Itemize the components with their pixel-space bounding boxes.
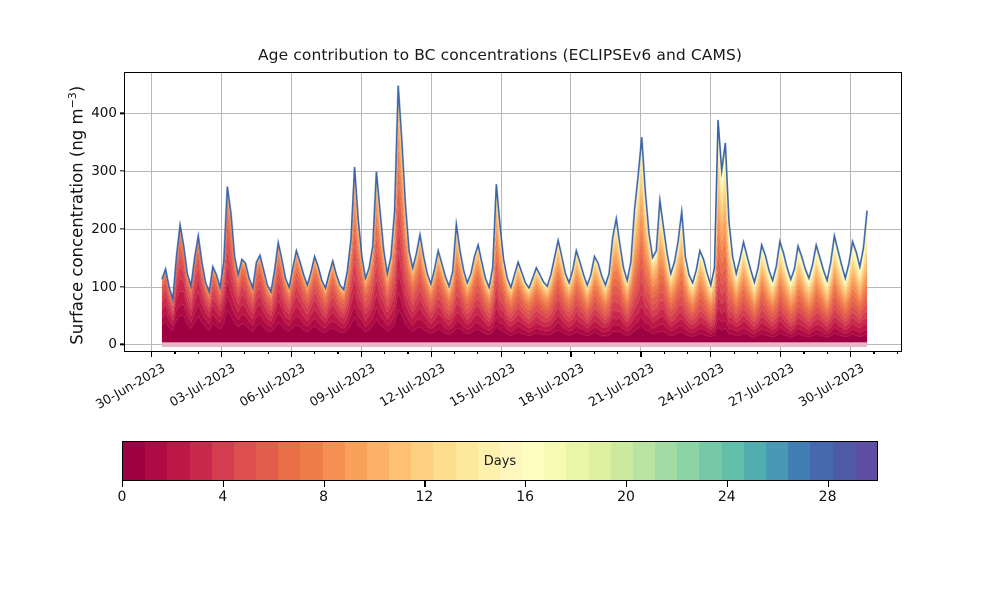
colorbar-swatch xyxy=(256,442,278,480)
colorbar-tick-label: 0 xyxy=(118,489,127,505)
x-tick-mark-minor xyxy=(477,351,478,354)
y-tick-mark xyxy=(120,170,125,171)
colorbar-tick-label: 4 xyxy=(218,489,227,505)
y-tick-label: 0 xyxy=(108,336,117,352)
y-tick-label: 300 xyxy=(91,163,117,179)
x-tick-label: 30-Jul-2023 xyxy=(796,360,867,410)
colorbar-swatch xyxy=(234,442,256,480)
y-axis-label: Surface concentration (ng m−3) xyxy=(66,55,87,375)
x-tick-label: 12-Jul-2023 xyxy=(376,360,447,410)
x-tick-mark-minor xyxy=(687,351,688,354)
x-tick-label: 24-Jul-2023 xyxy=(656,360,727,410)
x-tick-mark xyxy=(221,351,222,357)
colorbar-swatch xyxy=(167,442,189,480)
x-tick-label: 15-Jul-2023 xyxy=(446,360,517,410)
colorbar: Days 0481216202428 xyxy=(122,441,878,481)
colorbar-swatch xyxy=(833,442,855,480)
colorbar-swatch xyxy=(367,442,389,480)
colorbar-swatch xyxy=(722,442,744,480)
figure-canvas: Age contribution to BC concentrations (E… xyxy=(0,0,1000,600)
x-tick-label: 18-Jul-2023 xyxy=(516,360,587,410)
y-tick-mark xyxy=(120,286,125,287)
colorbar-swatch xyxy=(389,442,411,480)
colorbar-swatch xyxy=(323,442,345,480)
colorbar-tick-mark xyxy=(525,481,526,487)
x-tick-mark-minor xyxy=(594,351,595,354)
colorbar-swatch xyxy=(655,442,677,480)
colorbar-tick-mark xyxy=(626,481,627,487)
colorbar-tick-mark xyxy=(324,481,325,487)
colorbar-swatch xyxy=(123,442,145,480)
y-tick-label: 400 xyxy=(91,105,117,121)
x-tick-mark xyxy=(640,351,641,357)
x-tick-mark-minor xyxy=(734,351,735,354)
colorbar-swatch xyxy=(278,442,300,480)
colorbar-swatch xyxy=(566,442,588,480)
x-tick-label: 06-Jul-2023 xyxy=(237,360,308,410)
colorbar-tick-mark xyxy=(424,481,425,487)
colorbar-swatch xyxy=(145,442,167,480)
x-tick-mark-minor xyxy=(827,351,828,354)
x-tick-mark-minor xyxy=(617,351,618,354)
x-tick-mark xyxy=(710,351,711,357)
x-tick-mark-minor xyxy=(198,351,199,354)
y-tick-label: 100 xyxy=(91,279,117,295)
x-tick-mark-minor xyxy=(337,351,338,354)
x-tick-label: 30-Jun-2023 xyxy=(93,360,168,412)
colorbar-swatch xyxy=(478,442,500,480)
colorbar-swatch xyxy=(699,442,721,480)
y-tick-mark xyxy=(120,113,125,114)
x-tick-mark-minor xyxy=(664,351,665,354)
colorbar-tick-mark xyxy=(828,481,829,487)
colorbar-tick-label: 24 xyxy=(718,489,736,505)
x-tick-mark xyxy=(361,351,362,357)
x-tick-mark-minor xyxy=(454,351,455,354)
x-tick-mark-minor xyxy=(244,351,245,354)
colorbar-swatch xyxy=(611,442,633,480)
colorbar-swatch xyxy=(677,442,699,480)
colorbar-swatch xyxy=(855,442,877,480)
x-tick-mark-minor xyxy=(268,351,269,354)
x-tick-label: 03-Jul-2023 xyxy=(167,360,238,410)
y-tick-label: 200 xyxy=(91,221,117,237)
colorbar-swatch xyxy=(589,442,611,480)
colorbar-tick-label: 20 xyxy=(617,489,635,505)
chart-title: Age contribution to BC concentrations (E… xyxy=(0,46,1000,64)
x-tick-label: 27-Jul-2023 xyxy=(726,360,797,410)
x-tick-mark-minor xyxy=(757,351,758,354)
x-tick-mark-minor xyxy=(873,351,874,354)
colorbar-tick-label: 28 xyxy=(819,489,837,505)
colorbar-tick-label: 16 xyxy=(516,489,534,505)
colorbar-swatch xyxy=(810,442,832,480)
x-tick-mark-minor xyxy=(897,351,898,354)
stacked-area-plot xyxy=(125,73,901,351)
x-tick-mark-minor xyxy=(174,351,175,354)
x-tick-mark xyxy=(570,351,571,357)
colorbar-swatch xyxy=(500,442,522,480)
colorbar-tick-label: 8 xyxy=(319,489,328,505)
x-tick-mark-minor xyxy=(407,351,408,354)
colorbar-swatch xyxy=(212,442,234,480)
colorbar-swatch xyxy=(766,442,788,480)
colorbar-swatch xyxy=(433,442,455,480)
colorbar-swatch xyxy=(788,442,810,480)
x-tick-mark-minor xyxy=(314,351,315,354)
colorbar-swatch xyxy=(544,442,566,480)
colorbar-swatch xyxy=(411,442,433,480)
x-tick-mark-minor xyxy=(547,351,548,354)
x-tick-label: 09-Jul-2023 xyxy=(306,360,377,410)
colorbar-tick-mark xyxy=(122,481,123,487)
x-tick-mark xyxy=(501,351,502,357)
y-tick-mark xyxy=(120,228,125,229)
x-tick-mark xyxy=(850,351,851,357)
colorbar-swatch xyxy=(456,442,478,480)
x-tick-mark xyxy=(151,351,152,357)
y-tick-mark xyxy=(120,344,125,345)
colorbar-swatch xyxy=(633,442,655,480)
colorbar-tick-mark xyxy=(223,481,224,487)
colorbar-tick-mark xyxy=(727,481,728,487)
x-tick-mark xyxy=(780,351,781,357)
colorbar-swatch xyxy=(345,442,367,480)
colorbar-gradient xyxy=(122,441,878,481)
x-tick-label: 21-Jul-2023 xyxy=(586,360,657,410)
x-tick-mark-minor xyxy=(803,351,804,354)
colorbar-swatch xyxy=(522,442,544,480)
plot-area: 010020030040030-Jun-202303-Jul-202306-Ju… xyxy=(124,72,902,352)
x-tick-mark xyxy=(431,351,432,357)
colorbar-swatch xyxy=(300,442,322,480)
x-tick-mark-minor xyxy=(524,351,525,354)
x-tick-mark xyxy=(291,351,292,357)
colorbar-swatch xyxy=(190,442,212,480)
x-tick-mark-minor xyxy=(384,351,385,354)
colorbar-tick-label: 12 xyxy=(415,489,433,505)
colorbar-swatch xyxy=(744,442,766,480)
